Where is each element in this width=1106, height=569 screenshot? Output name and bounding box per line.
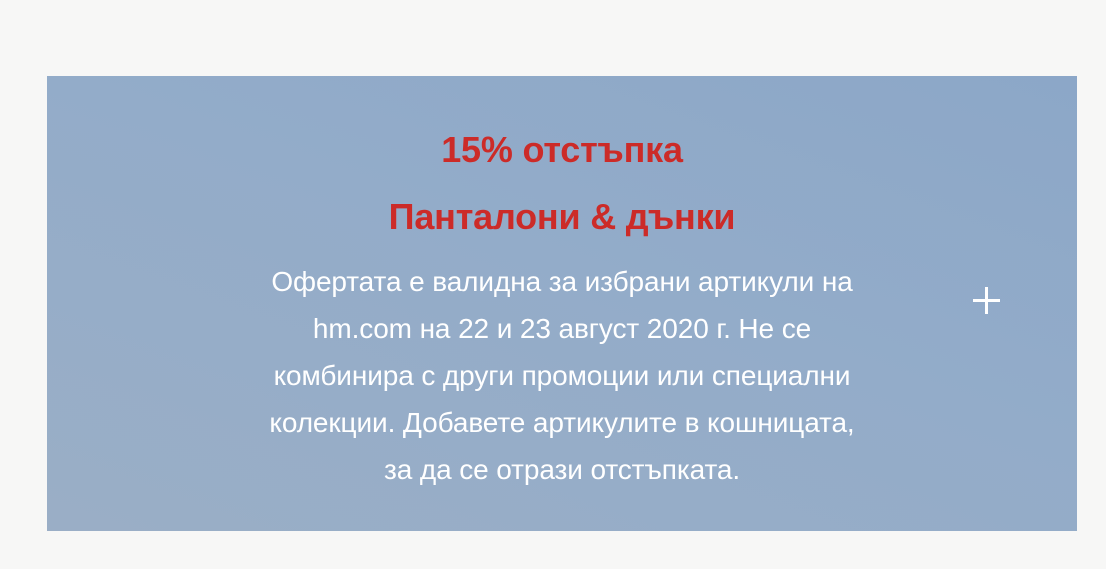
plus-icon-vertical-bar xyxy=(985,287,988,314)
promo-stage: 15% отстъпка Панталони & дънки Офертата … xyxy=(0,0,1106,569)
terms-line: комбинира с други промоции или специални xyxy=(47,352,1077,399)
discount-headline: 15% отстъпка xyxy=(47,131,1077,169)
terms-line: колекции. Добавете артикулите в кошницат… xyxy=(47,399,1077,446)
terms-text: Офертата е валидна за избрани артикули н… xyxy=(47,258,1077,493)
category-headline: Панталони & дънки xyxy=(47,198,1077,236)
terms-line: hm.com на 22 и 23 август 2020 г. Не се xyxy=(47,305,1077,352)
terms-line: Офертата е валидна за избрани артикули н… xyxy=(47,258,1077,305)
promotion-banner: 15% отстъпка Панталони & дънки Офертата … xyxy=(47,76,1077,531)
terms-line: за да се отрази отстъпката. xyxy=(47,446,1077,493)
plus-icon[interactable] xyxy=(973,287,1000,314)
